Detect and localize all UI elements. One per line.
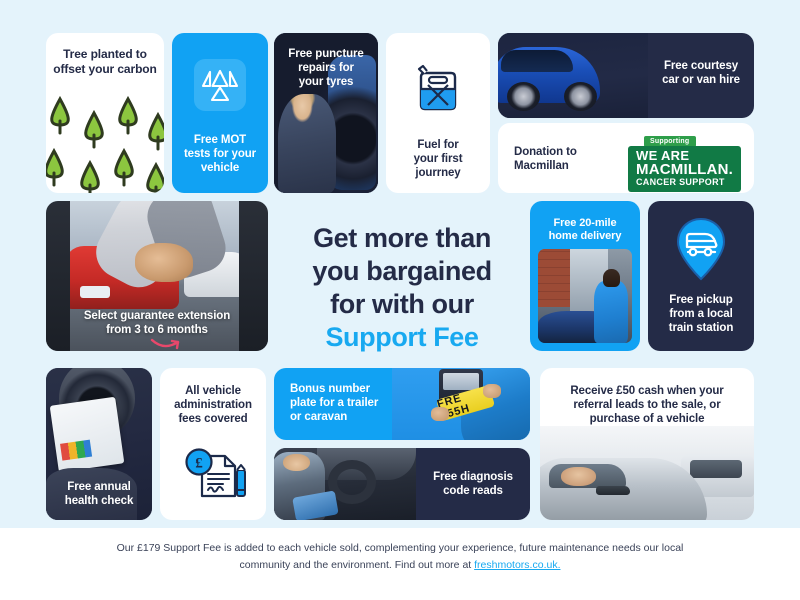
tile-tree-planted-label: Tree planted to offset your carbon [46, 47, 164, 76]
pound-document-pen-icon: £ [182, 440, 246, 507]
tile-health-check[interactable]: Free annual health check [46, 368, 152, 520]
tile-home-delivery-label: Free 20-mile home delivery [530, 217, 640, 244]
freshmotors-link[interactable]: freshmotors.co.uk. [474, 559, 560, 571]
tile-donation-macmillan[interactable]: Donation to Macmillan Supporting WE ARE … [498, 123, 754, 193]
tile-train-pickup-label: Free pickup from a local train station [648, 293, 754, 335]
hero-line-2: you bargained [278, 255, 526, 288]
tile-referral-cash-label: Receive £50 cash when your referral lead… [540, 384, 754, 426]
macmillan-line3: CANCER SUPPORT [636, 178, 733, 188]
tile-home-delivery[interactable]: Free 20-mile home delivery [530, 201, 640, 351]
curved-arrow-icon [150, 337, 182, 351]
tile-puncture-repairs-label: Free puncture repairs for your tyres [274, 47, 378, 89]
tile-admin-fees[interactable]: All vehicle administration fees covered … [160, 368, 266, 520]
tile-admin-fees-label: All vehicle administration fees covered [160, 384, 266, 426]
hero-accent-line: Support Fee [278, 321, 526, 354]
tile-courtesy-car[interactable]: Free courtesy car or van hire [498, 33, 754, 118]
tile-courtesy-car-label: Free courtesy car or van hire [648, 59, 754, 87]
macmillan-line2: MACMILLAN. [636, 162, 733, 177]
tile-puncture-repairs[interactable]: Free puncture repairs for your tyres [274, 33, 378, 193]
silver-car-photo [540, 426, 754, 520]
fuel-can-icon [416, 61, 460, 118]
tile-donation-macmillan-label: Donation to Macmillan [514, 145, 624, 173]
number-plate-photo: FRE 555H [392, 368, 530, 440]
tile-diagnosis[interactable]: Free diagnosis code reads [274, 448, 530, 520]
tile-free-mot-label: Free MOT tests for your vehicle [172, 133, 268, 175]
tree-pattern-icon [46, 91, 164, 193]
tile-train-pickup[interactable]: Free pickup from a local train station [648, 201, 754, 351]
train-map-pin-icon [675, 217, 727, 288]
tile-health-check-label: Free annual health check [46, 480, 152, 508]
tile-tree-planted[interactable]: Tree planted to offset your carbon [46, 33, 164, 193]
tile-fuel-label: Fuel for your first jourrney [386, 138, 490, 180]
promo-page: Tree planted to offset your carbon [0, 0, 800, 600]
tile-free-mot[interactable]: Free MOT tests for your vehicle [172, 33, 268, 193]
tile-guarantee-extension[interactable]: Select guarantee extension from 3 to 6 m… [46, 201, 268, 351]
tile-bonus-plate-label: Bonus number plate for a trailer or cara… [290, 382, 400, 424]
footer-text: Our £179 Support Fee is added to each ve… [117, 542, 684, 571]
tile-guarantee-extension-label: Select guarantee extension from 3 to 6 m… [46, 309, 268, 337]
tile-fuel[interactable]: Fuel for your first jourrney [386, 33, 490, 193]
hero-heading: Get more than you bargained for with our… [278, 222, 526, 354]
mot-triangles-icon [194, 59, 246, 116]
hero-line-3: for with our [278, 288, 526, 321]
pound-symbol: £ [195, 456, 203, 472]
macmillan-logo: Supporting WE ARE MACMILLAN. CANCER SUPP… [628, 136, 741, 192]
car-interior-photo [274, 448, 416, 520]
tile-referral-cash[interactable]: Receive £50 cash when your referral lead… [540, 368, 754, 520]
hero-line-1: Get more than [278, 222, 526, 255]
home-delivery-photo [538, 249, 632, 343]
footer-note: Our £179 Support Fee is added to each ve… [0, 540, 800, 575]
tile-bonus-plate[interactable]: FRE 555H Bonus number plate for a traile… [274, 368, 530, 440]
blue-car-photo [498, 33, 648, 118]
tile-diagnosis-label: Free diagnosis code reads [416, 470, 530, 498]
